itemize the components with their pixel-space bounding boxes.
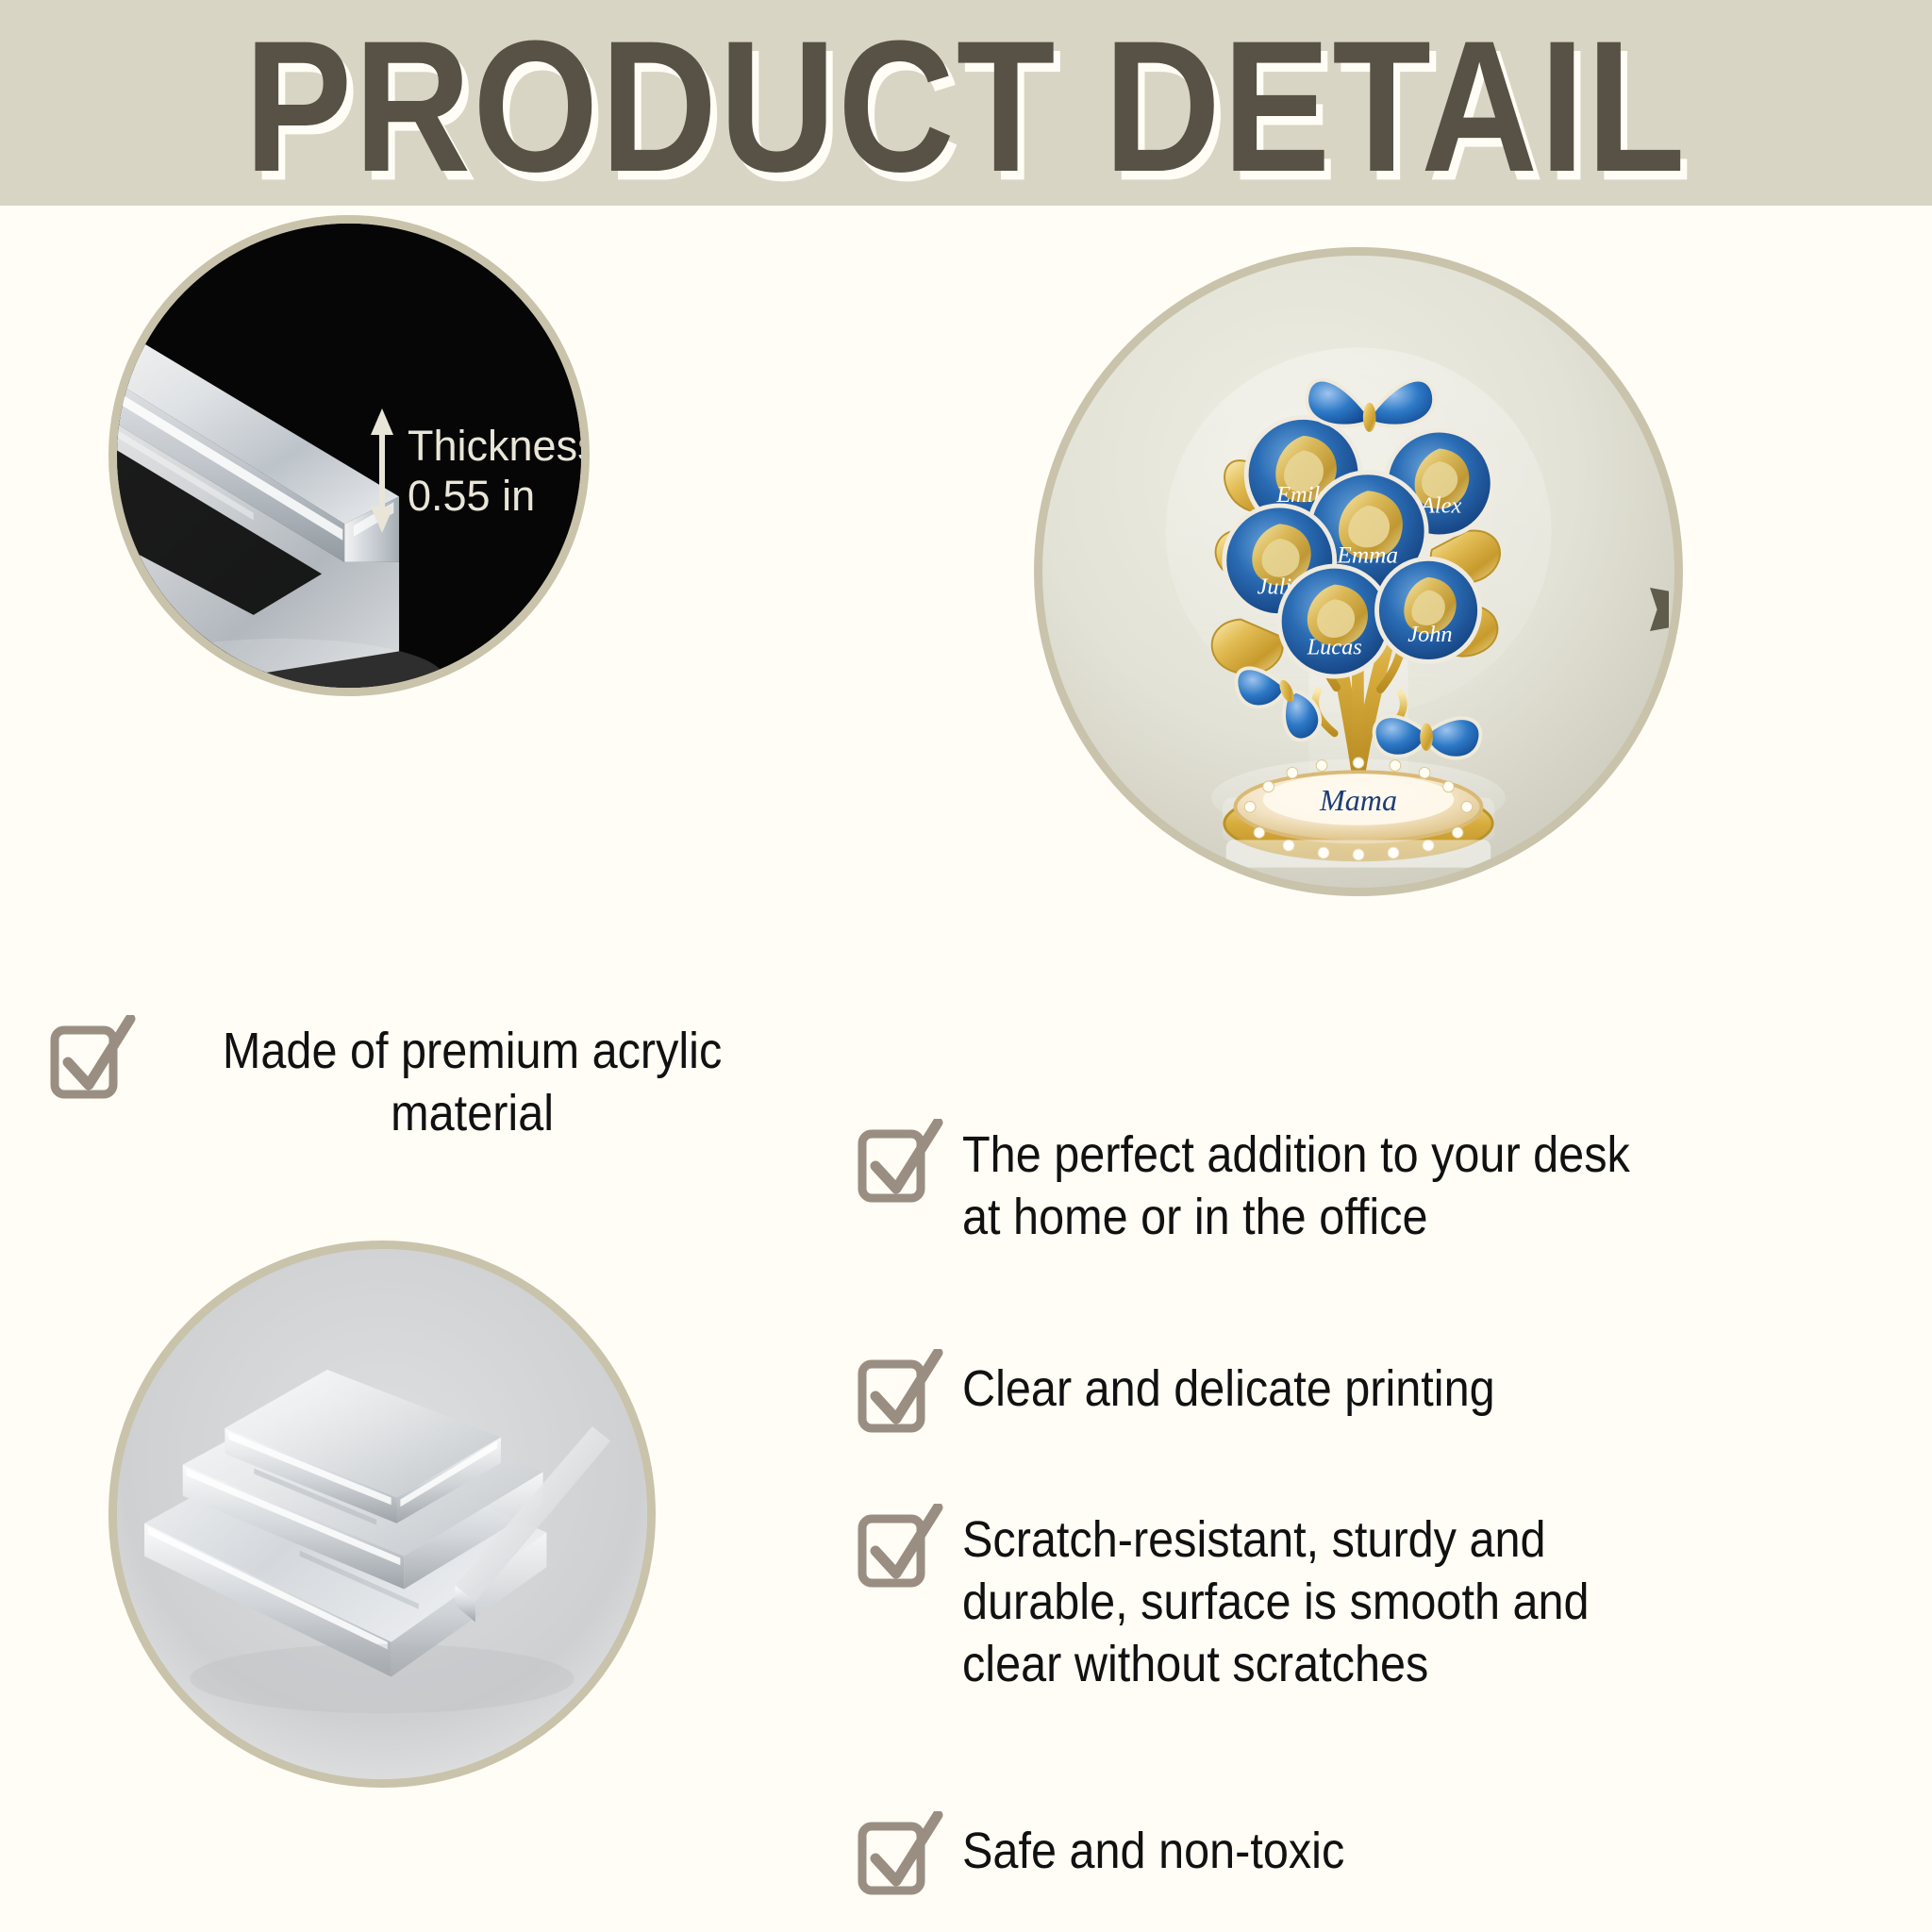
rose-name-emma: Emma [1336,541,1398,568]
feature-bullet-printing: Clear and delicate printing [857,1358,1932,1436]
thickness-callout: Thickness 0.55 in [370,408,590,533]
product-illustration: Emily Alex Emma Julie [1042,256,1674,888]
checkbox-checked-icon[interactable] [857,1119,943,1206]
feature-bullet-material: Made of premium acrylic material [49,1021,860,1145]
feature-bullet-text: Scratch-resistant, sturdy and durable, s… [962,1509,1932,1696]
product-photo-circle: Emily Alex Emma Julie [1034,247,1683,896]
base-name-label: Mama [1319,783,1397,817]
acrylic-edge-photo-circle: Thickness 0.55 in [108,215,590,696]
checkbox-checked-icon[interactable] [857,1349,943,1436]
butterfly-right [1374,716,1481,758]
thickness-value: 0.55 in [408,471,590,521]
double-arrow-icon [370,408,394,533]
feature-bullet-text: Safe and non-toxic [962,1821,1932,1883]
rose-name-lucas: Lucas [1307,635,1362,660]
checkbox-checked-icon[interactable] [857,1504,943,1591]
header-band: PRODUCT DETAIL [0,0,1932,206]
checkbox-checked-icon[interactable] [857,1811,943,1898]
thickness-label-group: Thickness 0.55 in [408,421,590,521]
feature-bullet-desk: The perfect addition to your desk at hom… [857,1124,1932,1249]
acrylic-sheets-illustration [117,1249,647,1779]
feature-bullet-text: Clear and delicate printing [962,1358,1932,1421]
checkbox-checked-icon[interactable] [49,1015,136,1102]
feature-bullet-text: The perfect addition to your desk at hom… [962,1124,1932,1249]
thickness-label: Thickness [408,421,590,471]
page-title: PRODUCT DETAIL [244,6,1687,199]
feature-bullet-scratch: Scratch-resistant, sturdy and durable, s… [857,1509,1932,1696]
acrylic-sheets-photo-circle [108,1241,656,1788]
feature-bullet-text: Made of premium acrylic material [155,1021,790,1145]
feature-bullet-safe: Safe and non-toxic [857,1821,1932,1898]
rose-name-john: John [1407,622,1452,647]
